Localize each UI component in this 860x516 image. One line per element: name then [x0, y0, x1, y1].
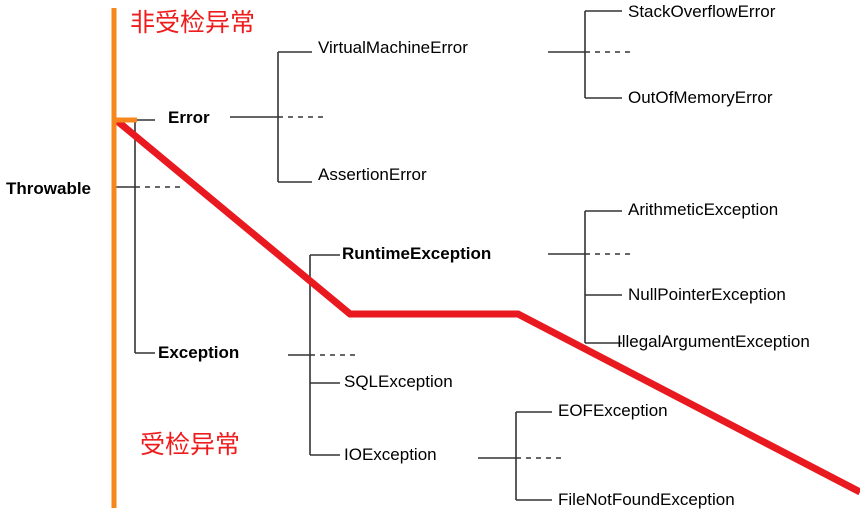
node-illegal-argument-exception: IllegalArgumentException	[617, 333, 810, 350]
zone-label-checked: 受检异常	[140, 432, 240, 457]
node-assertion-error: AssertionError	[318, 166, 427, 183]
node-file-not-found-exception: FileNotFoundException	[558, 491, 735, 508]
node-io-exception: IOException	[344, 446, 437, 463]
node-out-of-memory-error: OutOfMemoryError	[628, 89, 773, 106]
node-exception: Exception	[158, 344, 239, 361]
node-arithmetic-exception: ArithmeticException	[628, 201, 778, 218]
node-runtime-exception: RuntimeException	[342, 245, 491, 262]
node-stack-overflow-error: StackOverflowError	[628, 3, 775, 20]
node-virtual-machine-error: VirtualMachineError	[318, 39, 468, 56]
throwable-hierarchy-diagram: ThrowableErrorVirtualMachineErrorStackOv…	[0, 0, 860, 516]
zone-label-unchecked: 非受检异常	[130, 10, 255, 35]
node-null-pointer-exception: NullPointerException	[628, 286, 786, 303]
node-sql-exception: SQLException	[344, 373, 453, 390]
node-throwable: Throwable	[6, 180, 91, 197]
node-eof-exception: EOFException	[558, 402, 668, 419]
node-error: Error	[168, 109, 210, 126]
